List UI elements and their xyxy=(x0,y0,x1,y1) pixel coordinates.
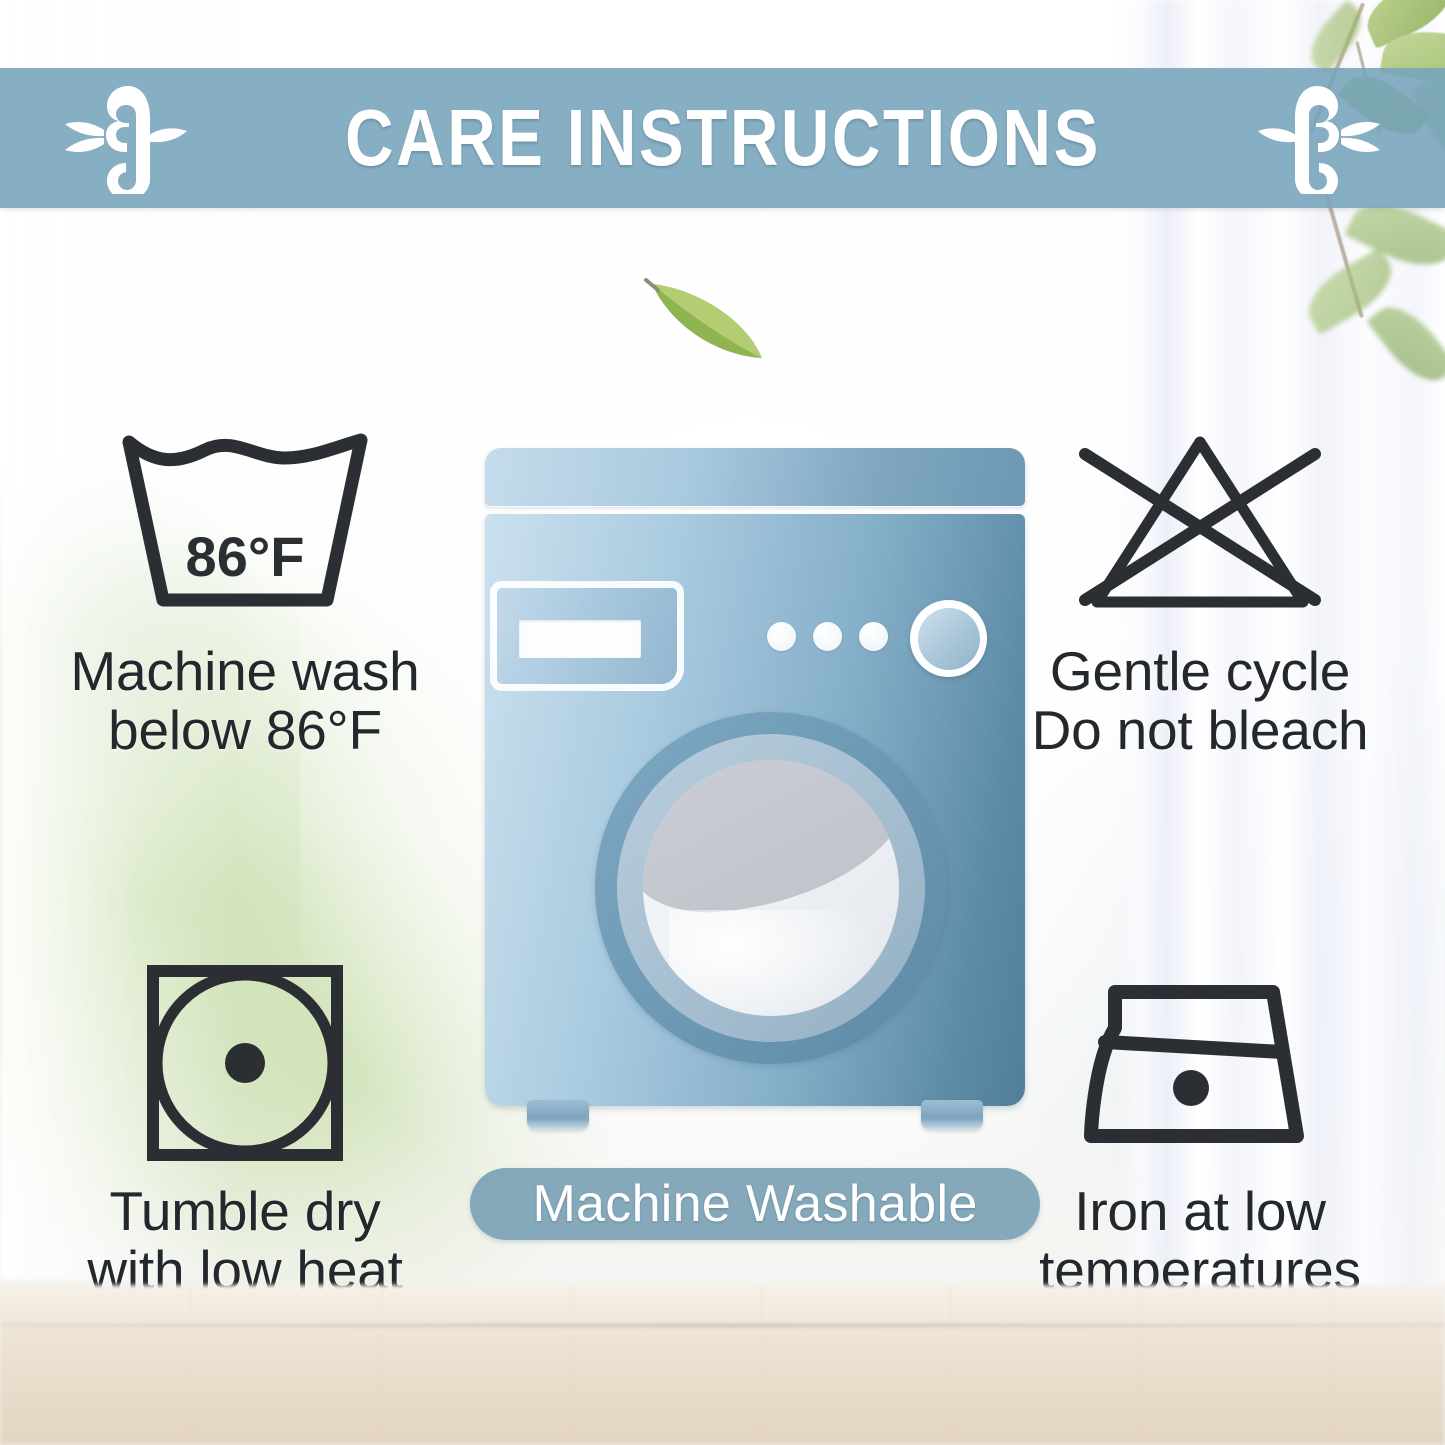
bleach-caption-line-1: Gentle cycle xyxy=(985,642,1415,701)
indicator-light xyxy=(767,622,796,651)
care-symbol-do-not-bleach: Gentle cycle Do not bleach xyxy=(985,418,1415,761)
door-glass-glint xyxy=(669,910,879,1016)
iron-low-temperature-icon xyxy=(1075,968,1325,1158)
wash-caption-line-1: Machine wash xyxy=(30,642,460,701)
machine-door-outer-ring xyxy=(595,712,947,1064)
machine-foot xyxy=(921,1100,983,1130)
wash-temperature-label: 86°F xyxy=(115,524,375,589)
leaf-icon xyxy=(640,272,770,368)
machine-body xyxy=(485,514,1025,1106)
foliage-sprig-lower-icon xyxy=(1290,190,1445,430)
page-title: CARE INSTRUCTIONS xyxy=(345,98,1101,178)
fleur-de-lis-icon xyxy=(1255,82,1385,194)
washing-machine-illustration xyxy=(485,448,1025,1118)
wooden-table-surface xyxy=(0,1285,1445,1445)
care-instructions-infographic: CARE INSTRUCTIONS 86°F xyxy=(0,0,1445,1445)
machine-top-panel xyxy=(485,448,1025,506)
care-symbol-iron-low: Iron at low temperatures xyxy=(985,958,1415,1301)
wooden-table-edge xyxy=(0,1324,1445,1327)
indicator-light xyxy=(859,622,888,651)
wash-tub-icon xyxy=(115,428,375,618)
program-knob-face xyxy=(918,608,980,670)
bleach-caption-line-2: Do not bleach xyxy=(985,701,1415,760)
tumble-dry-low-icon xyxy=(140,963,350,1163)
machine-washable-badge-label: Machine Washable xyxy=(532,1174,977,1234)
dry-caption-line-1: Tumble dry xyxy=(30,1182,460,1241)
wash-caption-line-2: below 86°F xyxy=(30,701,460,760)
machine-foot xyxy=(527,1100,589,1130)
detergent-drawer-slot xyxy=(519,620,641,658)
program-knob xyxy=(910,600,987,677)
machine-washable-badge: Machine Washable xyxy=(470,1168,1040,1240)
banner: CARE INSTRUCTIONS xyxy=(0,68,1445,208)
fleur-de-lis-icon xyxy=(60,82,190,194)
door-glass-swirl xyxy=(643,760,899,921)
iron-caption-line-1: Iron at low xyxy=(985,1182,1415,1241)
indicator-light xyxy=(813,622,842,651)
care-symbol-tumble-dry: Tumble dry with low heat xyxy=(30,958,460,1301)
detergent-drawer xyxy=(497,588,677,684)
care-symbol-machine-wash: 86°F Machine wash below 86°F xyxy=(30,418,460,761)
machine-door-glass xyxy=(643,760,899,1016)
machine-door-inner-ring xyxy=(617,734,925,1042)
do-not-bleach-triangle-icon xyxy=(1065,428,1335,618)
